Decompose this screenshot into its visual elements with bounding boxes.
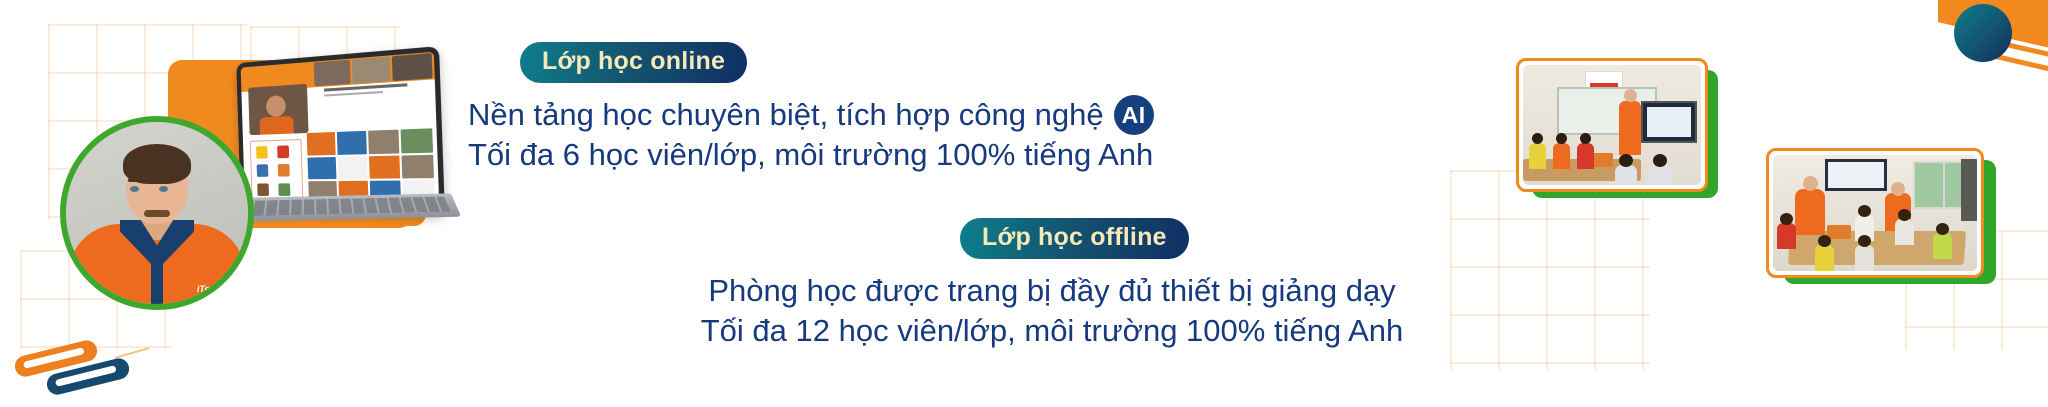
- shirt-logo-text: iTech: [197, 284, 220, 294]
- ai-badge-icon: AI: [1114, 95, 1154, 135]
- offline-line-2: Tối đa 12 học viên/lớp, môi trường 100% …: [602, 311, 1502, 351]
- clip-line-decoration: [114, 347, 149, 359]
- lesson-image-cell: [368, 130, 399, 154]
- student-figure: [1577, 143, 1594, 169]
- corner-circle-shape: [1954, 4, 2012, 62]
- teacher-figure: [1619, 101, 1641, 155]
- teacher-figure: [1795, 189, 1825, 235]
- lesson-image-cell: [337, 131, 367, 155]
- offline-badge-row: Lớp học offline: [960, 218, 1502, 259]
- lesson-image-cell: [307, 132, 336, 155]
- student-figure: [1553, 143, 1570, 169]
- teacher-portrait-avatar: iTech: [60, 116, 254, 310]
- student-figure: [1529, 143, 1546, 169]
- portrait-eyebrow: [156, 178, 170, 182]
- sticker-icon: [277, 145, 289, 158]
- lesson-image-cell: [338, 156, 368, 179]
- student-figure: [1855, 245, 1874, 271]
- lesson-image-cell: [401, 154, 434, 178]
- lesson-image-cell: [307, 157, 336, 180]
- presentation-screen: [1825, 159, 1887, 191]
- online-badge-row: Lớp học online: [520, 42, 1154, 83]
- online-line-1: Nền tảng học chuyên biệt, tích hợp công …: [468, 95, 1104, 135]
- student-figure: [1895, 219, 1914, 245]
- online-line-1-row: Nền tảng học chuyên biệt, tích hợp công …: [468, 95, 1154, 135]
- sticker-icon: [278, 183, 290, 196]
- photo-frame: [1516, 58, 1708, 192]
- tablet-screen: [241, 52, 440, 209]
- portrait-placket: [151, 260, 163, 304]
- sticker-icon: [257, 164, 269, 177]
- offline-text-lines: Phòng học được trang bị đầy đủ thiết bị …: [602, 271, 1502, 352]
- sticker-icon: [278, 164, 290, 177]
- portrait-moustache: [144, 210, 170, 217]
- student-figure: [1615, 165, 1637, 185]
- lesson-image-cell: [401, 128, 433, 153]
- student-video-tile: [248, 84, 308, 135]
- student-head-shape: [266, 95, 286, 117]
- presentation-screen: [1641, 101, 1697, 143]
- portrait-eye: [130, 186, 139, 192]
- offline-line-1: Phòng học được trang bị đầy đủ thiết bị …: [602, 271, 1502, 311]
- photo-frame: [1766, 148, 1984, 278]
- promo-banner: iTech Lớp học online Nền tảng học chuyên…: [0, 0, 2048, 407]
- online-text-lines: Nền tảng học chuyên biệt, tích hợp công …: [468, 95, 1154, 176]
- classroom-photo-2: [1766, 148, 1986, 278]
- student-figure: [1649, 165, 1671, 185]
- online-line-2: Tối đa 6 học viên/lớp, môi trường 100% t…: [468, 135, 1154, 175]
- portrait-eye: [159, 186, 168, 192]
- curtain: [1961, 159, 1977, 221]
- offline-badge: Lớp học offline: [960, 218, 1189, 259]
- student-figure: [1777, 223, 1796, 249]
- sticker-icon: [256, 146, 268, 159]
- lesson-image-cell: [369, 155, 400, 179]
- left-media-cluster: iTech: [0, 0, 460, 330]
- photo-content: [1523, 65, 1701, 185]
- tablet-device: [236, 46, 445, 214]
- participant-tile: [392, 53, 433, 81]
- participant-thumbnails: [314, 53, 433, 86]
- student-figure: [1933, 233, 1952, 259]
- lesson-title-line-2: [324, 91, 383, 97]
- corner-decoration: [1938, 0, 2048, 80]
- classroom-photo-1: [1516, 58, 1706, 190]
- participant-tile: [314, 60, 351, 87]
- online-info-block: Lớp học online Nền tảng học chuyên biệt,…: [520, 42, 1154, 176]
- online-badge: Lớp học online: [520, 42, 747, 83]
- participant-tile: [352, 56, 391, 83]
- student-body-shape: [259, 116, 293, 135]
- photo-content: [1773, 155, 1977, 271]
- offline-info-block: Lớp học offline Phòng học được trang bị …: [960, 218, 1502, 352]
- portrait-eyebrow: [128, 178, 142, 182]
- laptop-on-table: [1827, 225, 1851, 239]
- sticker-icon: [257, 183, 269, 195]
- student-figure: [1815, 245, 1834, 271]
